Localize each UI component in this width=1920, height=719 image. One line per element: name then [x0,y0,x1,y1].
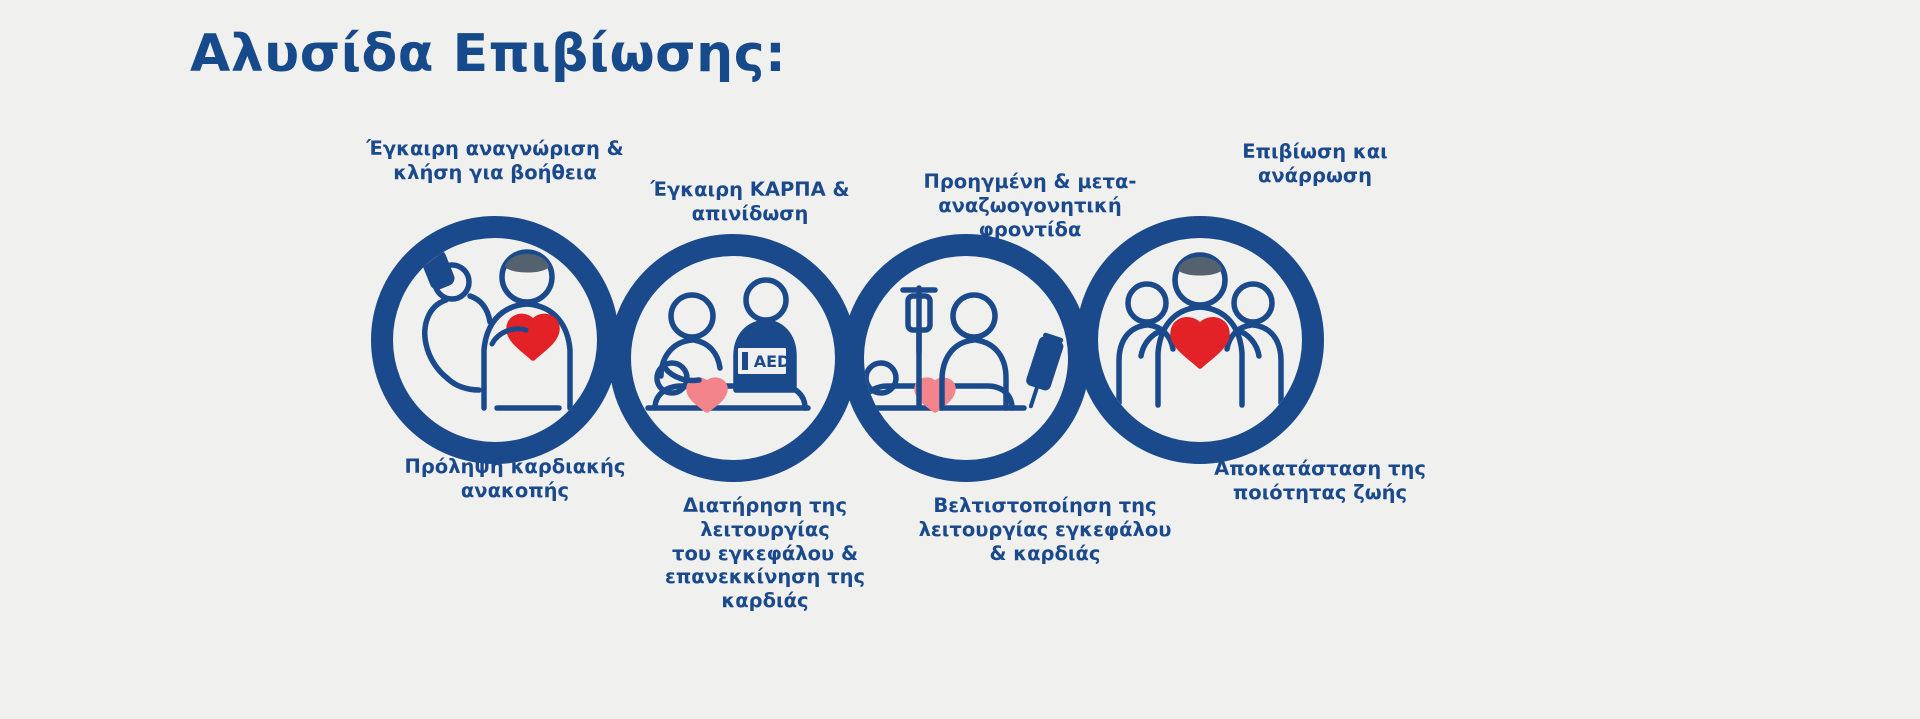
chain-link-2-ring [620,245,846,471]
chain-of-survival-infographic: Αλυσίδα Επιβίωσης: Έγκαιρη αναγνώριση & … [0,0,1920,719]
link-2-icon: AED [648,280,808,410]
aed-device-label: AED [754,352,791,371]
link-3-icon [856,288,1063,410]
chain-graphic: AED [0,0,1920,719]
link-4-icon [1119,255,1281,405]
